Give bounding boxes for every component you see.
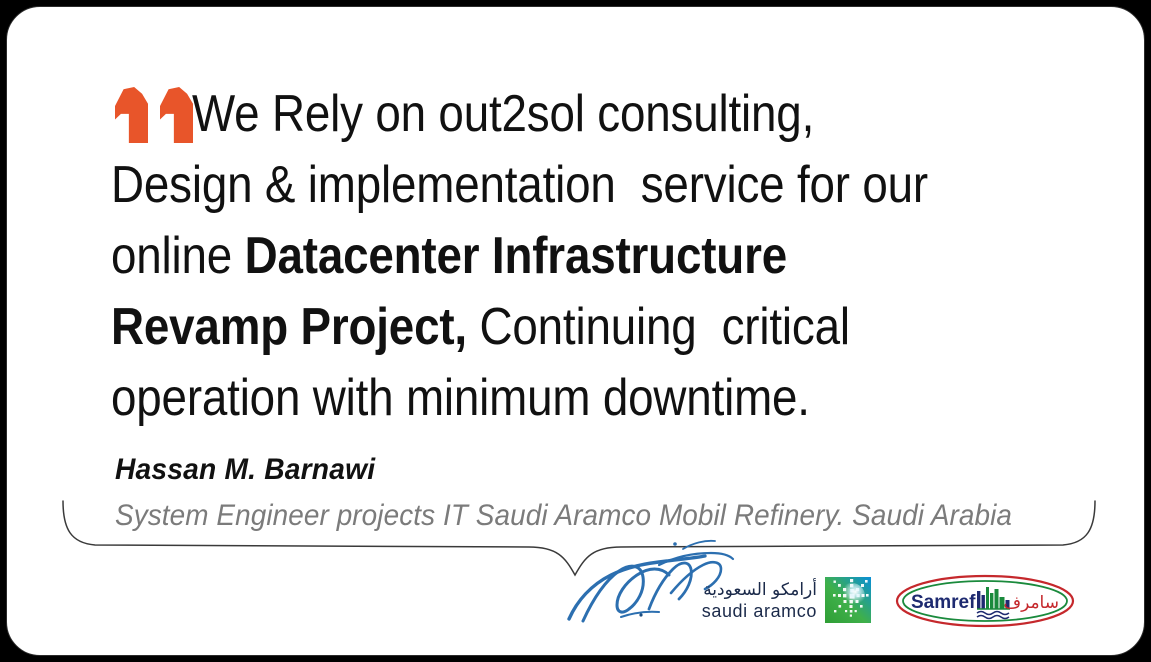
aramco-latin-text: saudi aramco [702, 601, 817, 621]
quote-line-3: online Datacenter Infrastructure [111, 221, 991, 292]
screenshot-stage: We Rely on out2sol consulting, Design & … [0, 0, 1151, 662]
quote-line-3-plain: online [111, 227, 245, 285]
aramco-starburst-emblem [825, 577, 871, 623]
aramco-arabic-text: أرامكو السعودية [703, 578, 817, 600]
testimonial-card: We Rely on out2sol consulting, Design & … [6, 6, 1145, 656]
quote-line-4: Revamp Project, Continuing critical [111, 292, 991, 363]
samref-arabic-text: سامرف [1003, 593, 1059, 613]
quote-line-4-plain: Continuing critical [467, 298, 850, 356]
quote-body: We Rely on out2sol consulting, Design & … [111, 79, 1111, 434]
quote-line-3-bold: Datacenter Infrastructure [245, 227, 787, 285]
quote-line-1: We Rely on out2sol consulting, [111, 79, 991, 150]
samref-logo: Samref سامرف [895, 573, 1075, 629]
quote-line-4-bold: Revamp Project, [111, 298, 467, 356]
quote-line-2: Design & implementation service for our [111, 150, 991, 221]
attribution-name: Hassan M. Barnawi [115, 453, 375, 487]
samref-latin-text: Samref [911, 592, 976, 613]
quote-line-5: operation with minimum downtime. [111, 363, 991, 434]
saudi-aramco-logo: أرامكو السعودية saudi aramco [695, 569, 875, 631]
